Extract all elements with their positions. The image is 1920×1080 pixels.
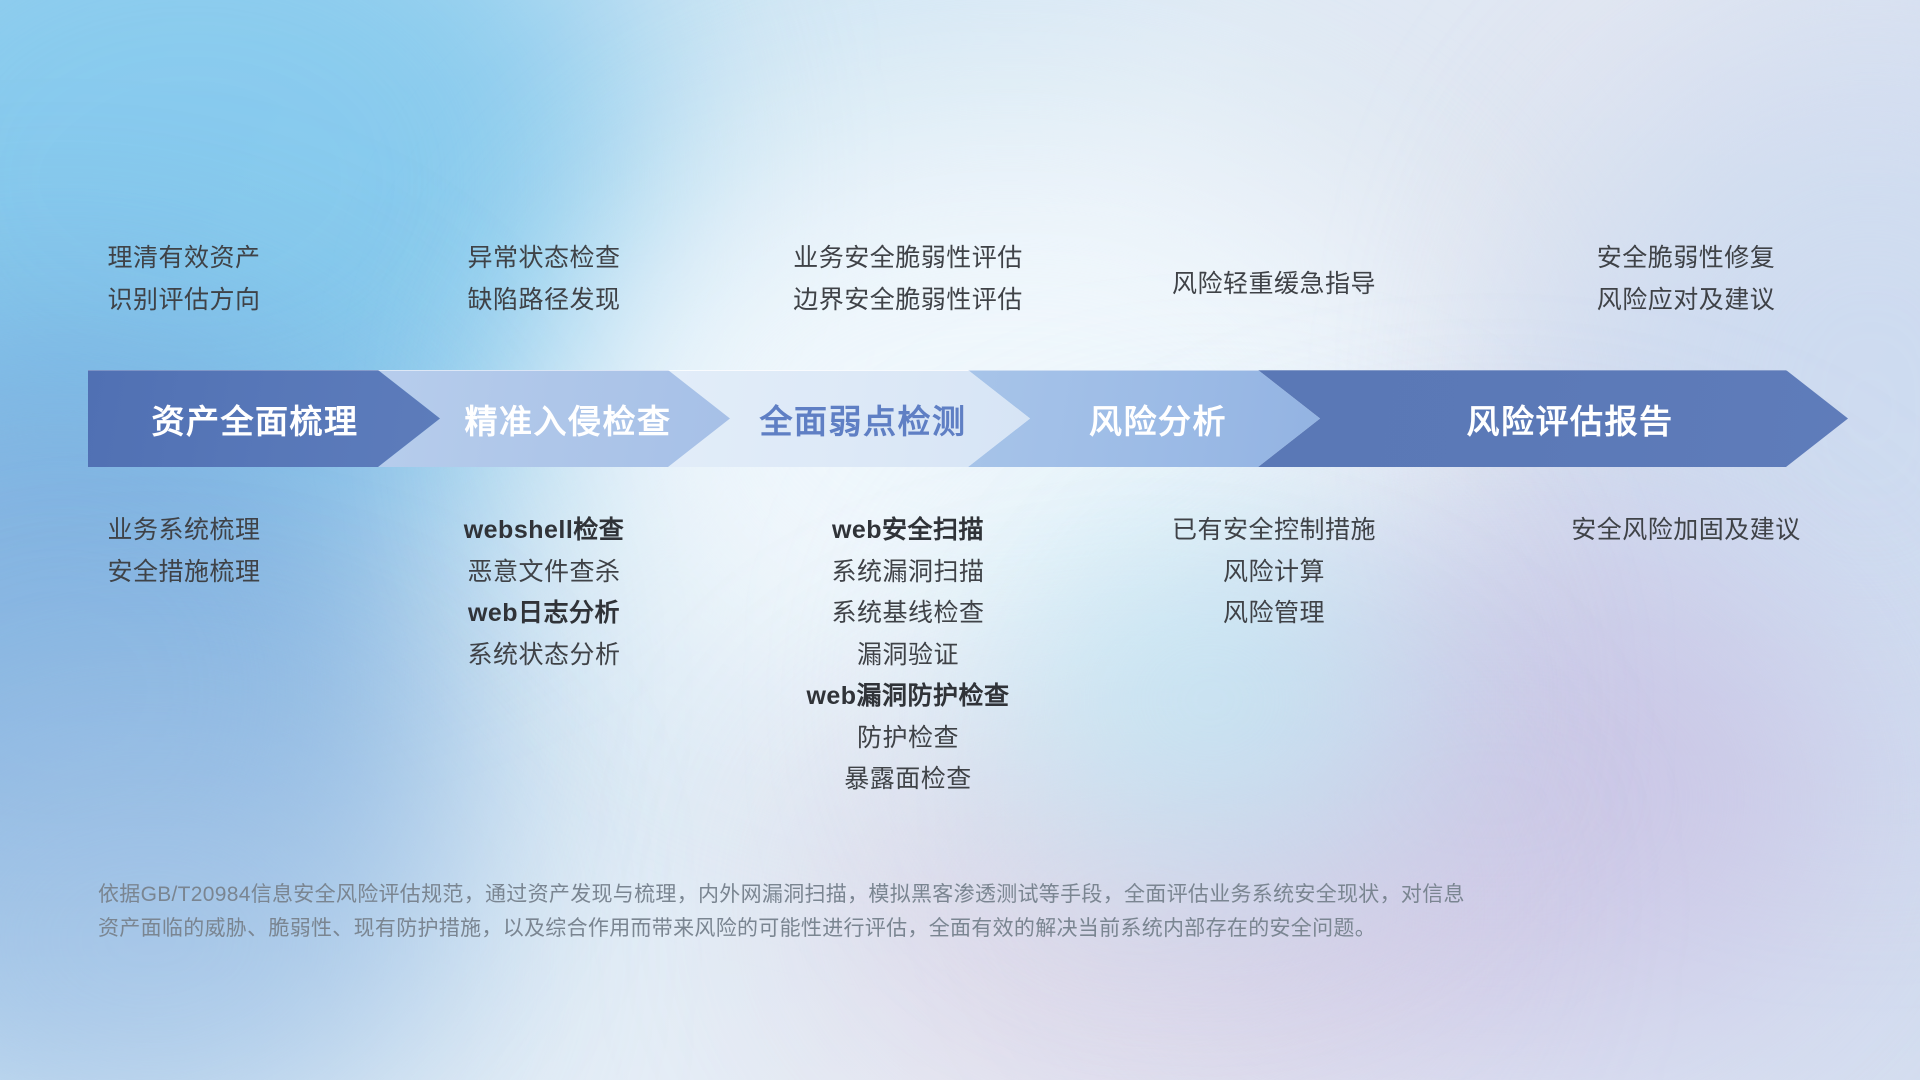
list-item: web安全扫描 [832,510,984,552]
top-col-intrusion-check: 异常状态检查 缺陷路径发现 [368,238,720,348]
top-item: 边界安全脆弱性评估 [793,280,1023,322]
list-item: web漏洞防护检查 [806,676,1009,718]
footer-description: 依据GB/T20984信息安全风险评估规范，通过资产发现与梳理，内外网漏洞扫描，… [98,878,1618,946]
list-item: 暴露面检查 [844,759,972,801]
top-col-risk-analysis: 风险轻重缓急指导 [1096,238,1452,348]
footer-line-1: 依据GB/T20984信息安全风险评估规范，通过资产发现与梳理，内外网漏洞扫描，… [98,878,1618,912]
list-item: 漏洞验证 [857,635,959,677]
top-item: 业务安全脆弱性评估 [793,238,1023,280]
bottom-col-risk-report: 安全风险加固及建议 [1452,510,1920,801]
top-item: 识别评估方向 [107,280,260,322]
top-item: 缺陷路径发现 [467,280,620,322]
list-item: 业务系统梳理 [107,510,260,552]
arrow-stage-asset-inventory[interactable]: 资产全面梳理 [88,370,440,467]
bottom-list-row: 业务系统梳理 安全措施梳理 webshell检查 恶意文件查杀 web日志分析 … [0,510,1920,801]
bottom-col-asset-inventory: 业务系统梳理 安全措施梳理 [0,510,368,801]
bottom-col-weakness-detection: web安全扫描 系统漏洞扫描 系统基线检查 漏洞验证 web漏洞防护检查 防护检… [720,510,1096,801]
top-item: 异常状态检查 [467,238,620,280]
list-item: 安全措施梳理 [107,552,260,594]
slide-canvas: 理清有效资产 识别评估方向 异常状态检查 缺陷路径发现 业务安全脆弱性评估 边界… [0,0,1920,1080]
top-col-risk-report: 安全脆弱性修复 风险应对及建议 [1452,238,1920,348]
arrow-stage-risk-report[interactable]: 风险评估报告 [1258,370,1848,467]
list-item: 风险管理 [1223,593,1325,635]
arrow-label: 资产全面梳理 [88,395,440,443]
footer-line-2: 资产面临的威胁、脆弱性、现有防护措施，以及综合作用而带来风险的可能性进行评估，全… [98,912,1618,946]
list-item: 安全风险加固及建议 [1571,510,1801,552]
list-item: 恶意文件查杀 [467,552,620,594]
bottom-col-intrusion-check: webshell检查 恶意文件查杀 web日志分析 系统状态分析 [368,510,720,801]
top-item: 风险轻重缓急指导 [1172,264,1376,306]
top-item: 安全脆弱性修复 [1597,238,1776,280]
process-arrow-band: 风险评估报告 风险分析 全面弱点检测 精准入侵检查 资产全面梳理 [88,370,1848,467]
list-item: 风险计算 [1223,552,1325,594]
top-item: 风险应对及建议 [1597,280,1776,322]
bottom-col-risk-analysis: 已有安全控制措施 风险计算 风险管理 [1096,510,1452,801]
top-col-asset-inventory: 理清有效资产 识别评估方向 [0,238,368,348]
list-item: webshell检查 [464,510,625,552]
list-item: 系统状态分析 [467,635,620,677]
arrow-label: 风险评估报告 [1258,395,1848,443]
top-item: 理清有效资产 [107,238,260,280]
top-label-row: 理清有效资产 识别评估方向 异常状态检查 缺陷路径发现 业务安全脆弱性评估 边界… [0,238,1920,348]
list-item: 系统漏洞扫描 [831,552,984,594]
top-col-weakness-detection: 业务安全脆弱性评估 边界安全脆弱性评估 [720,238,1096,348]
list-item: 已有安全控制措施 [1172,510,1376,552]
list-item: web日志分析 [468,593,620,635]
list-item: 系统基线检查 [831,593,984,635]
list-item: 防护检查 [857,718,959,760]
